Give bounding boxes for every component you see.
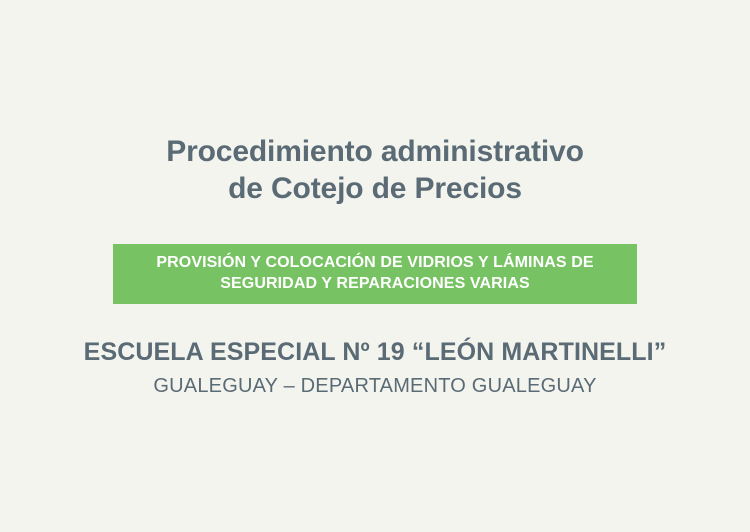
school-identity-block: ESCUELA ESPECIAL Nº 19 “LEÓN MARTINELLI”…: [0, 337, 750, 398]
page-title-line-2: de Cotejo de Precios: [0, 171, 750, 208]
project-scope-banner: PROVISIÓN Y COLOCACIÓN DE VIDRIOS Y LÁMI…: [113, 244, 637, 304]
cover-page: Procedimiento administrativo de Cotejo d…: [0, 0, 750, 532]
page-title: Procedimiento administrativo de Cotejo d…: [0, 134, 750, 207]
project-scope-banner-line-2: SEGURIDAD Y REPARACIONES VARIAS: [220, 274, 530, 294]
cover-content-stack: Procedimiento administrativo de Cotejo d…: [0, 0, 750, 398]
project-scope-banner-line-1: PROVISIÓN Y COLOCACIÓN DE VIDRIOS Y LÁMI…: [156, 253, 593, 273]
school-location: GUALEGUAY – DEPARTAMENTO GUALEGUAY: [0, 374, 750, 398]
page-title-line-1: Procedimiento administrativo: [0, 134, 750, 171]
school-name: ESCUELA ESPECIAL Nº 19 “LEÓN MARTINELLI”: [0, 337, 750, 367]
